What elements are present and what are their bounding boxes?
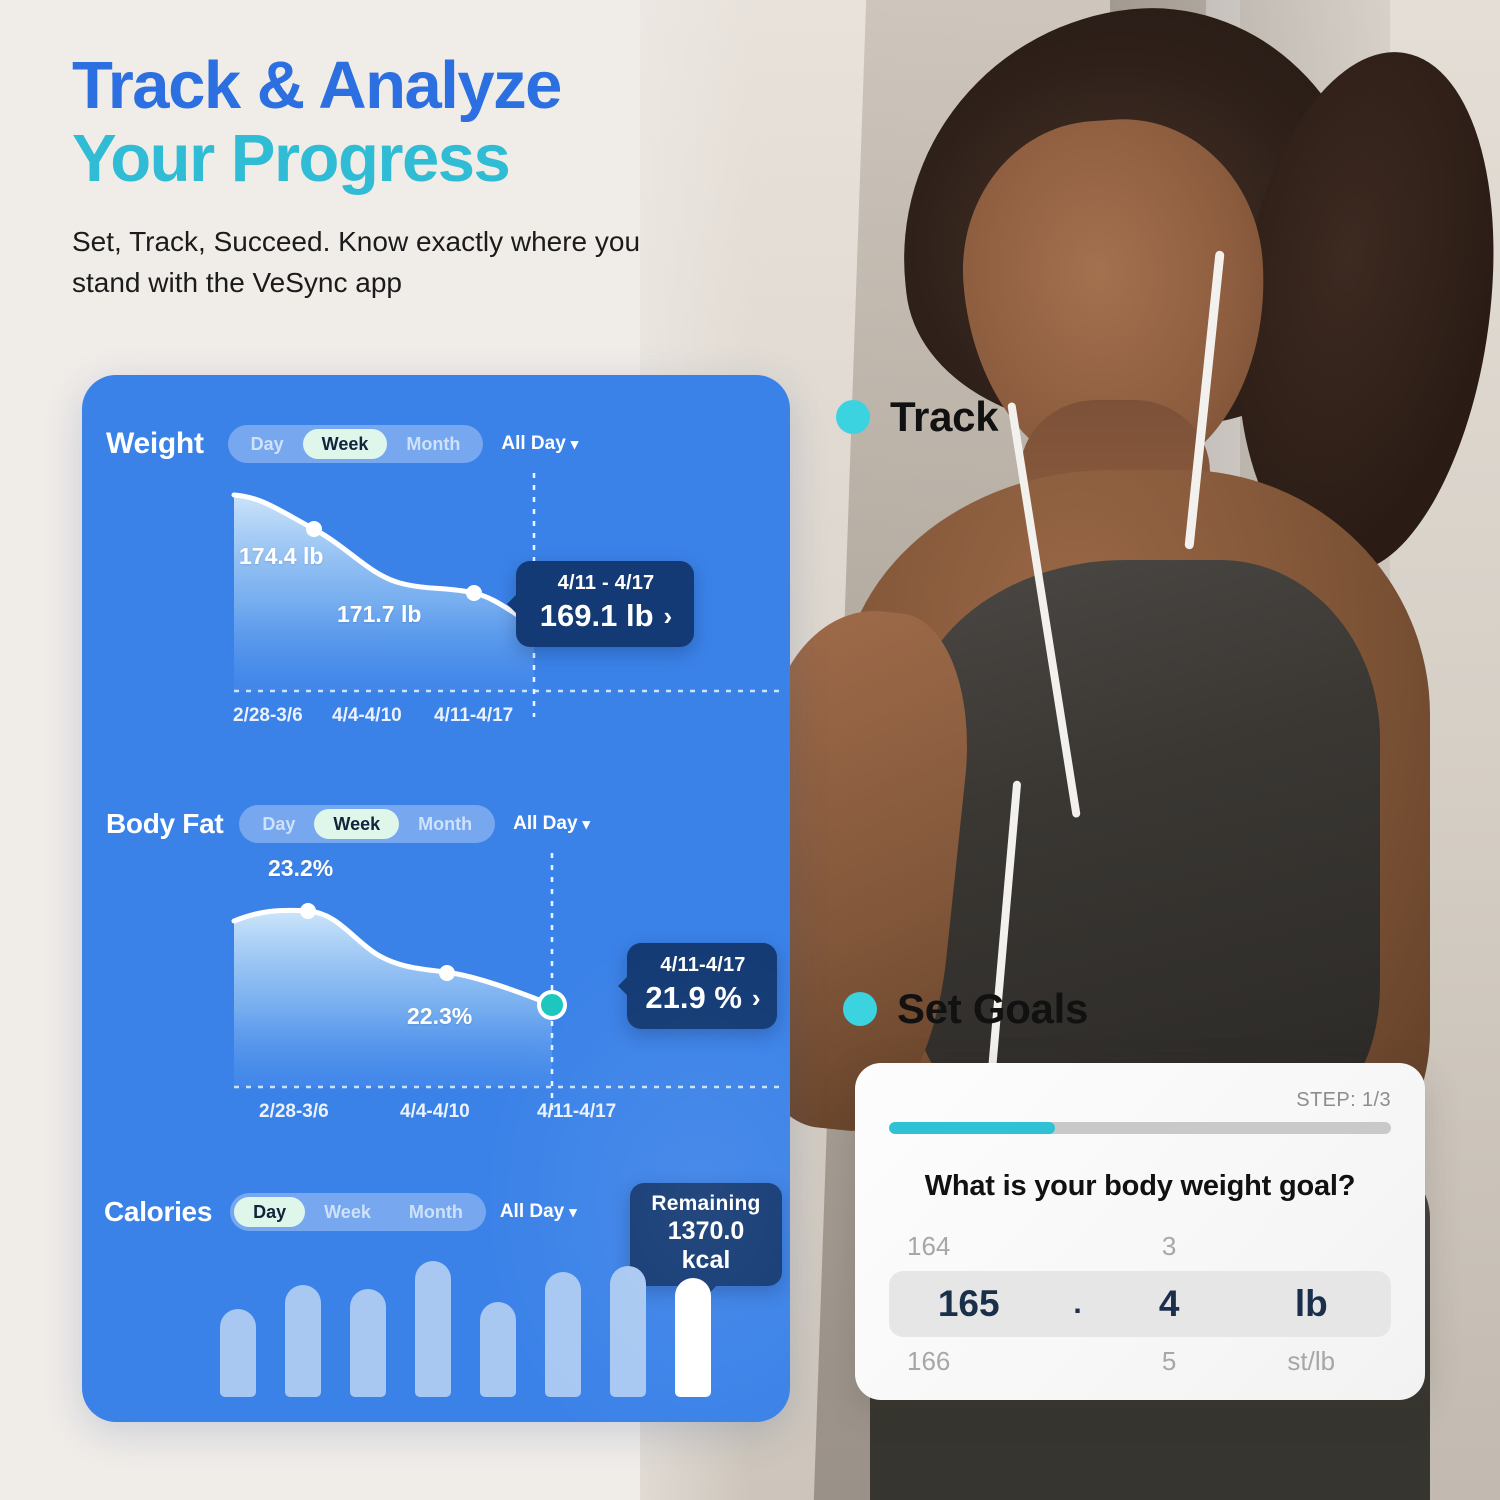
- page-title: Track & Analyze Your Progress: [72, 52, 772, 192]
- bodyfat-allday-label: All Day: [513, 813, 577, 835]
- calories-segment-week[interactable]: Week: [305, 1197, 390, 1227]
- bodyfat-value-badge[interactable]: 4/11-4/17 21.9 % ›: [627, 943, 777, 1029]
- calories-bar[interactable]: [285, 1285, 321, 1397]
- goals-progress-fill: [889, 1122, 1055, 1134]
- weight-goal-picker[interactable]: 164 3 165 . 4 lb 166 5 st/lb: [889, 1231, 1391, 1377]
- weight-value-badge[interactable]: 4/11 - 4/17 169.1 lb ›: [516, 561, 694, 647]
- weight-data-point: [306, 521, 322, 537]
- picker-selected-integer[interactable]: 165: [889, 1283, 1048, 1325]
- bodyfat-data-point: [439, 965, 455, 981]
- picker-above-decimal[interactable]: 3: [1107, 1231, 1232, 1262]
- annotation-set-goals: Set Goals: [843, 985, 1088, 1033]
- bodyfat-section-title: Body Fat: [106, 808, 223, 840]
- picker-above-integer[interactable]: 164: [889, 1231, 1048, 1262]
- weight-badge-value-row: 169.1 lb ›: [534, 598, 678, 634]
- bodyfat-current-point[interactable]: [537, 990, 567, 1020]
- weight-segment-day[interactable]: Day: [232, 429, 303, 459]
- bodyfat-segmented-control[interactable]: Day Week Month: [239, 805, 495, 843]
- picker-below-integer[interactable]: 166: [889, 1346, 1048, 1377]
- page-subtitle: Set, Track, Succeed. Know exactly where …: [72, 222, 682, 303]
- picker-selected-unit[interactable]: lb: [1232, 1283, 1391, 1325]
- calories-bar[interactable]: [220, 1309, 256, 1397]
- bodyfat-badge-range: 4/11-4/17: [645, 954, 761, 977]
- weight-badge-range: 4/11 - 4/17: [534, 572, 678, 595]
- weight-segment-week[interactable]: Week: [303, 429, 388, 459]
- picker-decimal-point: .: [1048, 1287, 1106, 1321]
- weight-area-chart: 174.4 lb 171.7 lb 2/28-3/6 4/4-4/10 4/11…: [82, 473, 790, 763]
- weight-data-point: [466, 585, 482, 601]
- bullet-dot-icon: [843, 992, 877, 1026]
- set-goals-card: STEP: 1/3 What is your body weight goal?…: [855, 1063, 1425, 1400]
- bodyfat-x-tick: 4/4-4/10: [400, 1101, 470, 1123]
- chevron-down-icon: ▾: [569, 1203, 577, 1221]
- calories-badge-line1: Remaining: [648, 1192, 764, 1216]
- calories-bar[interactable]: [545, 1272, 581, 1397]
- weight-point-label-2: 171.7 lb: [337, 601, 421, 628]
- weight-badge-value: 169.1 lb: [540, 598, 654, 634]
- calories-section: Calories Day Week Month All Day ▾ Remain…: [82, 1193, 790, 1231]
- bodyfat-badge-value: 21.9 %: [645, 980, 742, 1016]
- bodyfat-area-fill: [234, 910, 552, 1087]
- bodyfat-data-point: [300, 903, 316, 919]
- calories-allday-label: All Day: [500, 1201, 564, 1223]
- calories-bar-chart: [220, 1257, 711, 1397]
- weight-x-tick: 4/11-4/17: [434, 705, 513, 727]
- annotation-set-goals-label: Set Goals: [897, 985, 1088, 1033]
- page-title-line-1: Track & Analyze: [72, 52, 772, 119]
- goals-question: What is your body weight goal?: [889, 1170, 1391, 1203]
- calories-allday-dropdown[interactable]: All Day ▾: [500, 1201, 577, 1223]
- calories-bar[interactable]: [350, 1289, 386, 1397]
- hero-text-block: Track & Analyze Your Progress Set, Track…: [72, 52, 772, 303]
- bodyfat-section: Body Fat Day Week Month All Day ▾: [82, 805, 790, 843]
- goals-step-label: STEP: 1/3: [889, 1089, 1391, 1112]
- weight-point-label-1: 174.4 lb: [239, 543, 323, 570]
- calories-bar[interactable]: [480, 1302, 516, 1397]
- weight-section-title: Weight: [106, 427, 204, 461]
- picker-selected-decimal[interactable]: 4: [1107, 1283, 1232, 1325]
- weight-segment-month[interactable]: Month: [387, 429, 479, 459]
- calories-segmented-control[interactable]: Day Week Month: [230, 1193, 486, 1231]
- annotation-track-label: Track: [890, 393, 998, 441]
- bodyfat-point-label-2: 22.3%: [407, 1003, 472, 1030]
- calories-section-title: Calories: [104, 1196, 212, 1228]
- chevron-right-icon: ›: [752, 983, 761, 1014]
- chevron-right-icon: ›: [664, 601, 673, 632]
- weight-segmented-control[interactable]: Day Week Month: [228, 425, 484, 463]
- bullet-dot-icon: [836, 400, 870, 434]
- page-title-line-2: Your Progress: [72, 125, 772, 192]
- bodyfat-segment-month[interactable]: Month: [399, 809, 491, 839]
- bodyfat-segment-day[interactable]: Day: [243, 809, 314, 839]
- chevron-down-icon: ▾: [571, 435, 579, 453]
- app-preview-card: Weight Day Week Month All Day ▾: [82, 375, 790, 1422]
- bodyfat-x-tick: 2/28-3/6: [259, 1101, 329, 1123]
- calories-segment-month[interactable]: Month: [390, 1197, 482, 1227]
- calories-segment-day[interactable]: Day: [234, 1197, 305, 1227]
- bodyfat-badge-value-row: 21.9 % ›: [645, 980, 761, 1016]
- picker-below-unit[interactable]: st/lb: [1232, 1346, 1391, 1377]
- chevron-down-icon: ▾: [583, 815, 591, 833]
- bodyfat-area-chart: 23.2% 22.3% 2/28-3/6 4/4-4/10 4/11-4/17 …: [82, 853, 790, 1153]
- calories-bar-highlighted[interactable]: [675, 1278, 711, 1397]
- annotation-track: Track: [836, 393, 998, 441]
- badge-tail-icon: [618, 975, 629, 997]
- weight-section: Weight Day Week Month All Day ▾: [82, 425, 790, 463]
- picker-below-decimal[interactable]: 5: [1107, 1346, 1232, 1377]
- bodyfat-x-tick: 4/11-4/17: [537, 1101, 616, 1123]
- badge-tail-icon: [507, 593, 518, 615]
- picker-row-selected[interactable]: 165 . 4 lb: [889, 1271, 1391, 1337]
- weight-allday-label: All Day: [501, 433, 565, 455]
- weight-x-tick: 4/4-4/10: [332, 705, 402, 727]
- calories-bar[interactable]: [610, 1266, 646, 1397]
- calories-bar[interactable]: [415, 1261, 451, 1397]
- goals-progress-bar: [889, 1122, 1391, 1134]
- weight-area-fill: [234, 495, 534, 691]
- bodyfat-segment-week[interactable]: Week: [314, 809, 399, 839]
- bodyfat-point-label-1: 23.2%: [268, 855, 333, 882]
- picker-row-above[interactable]: 164 3: [889, 1231, 1391, 1262]
- weight-allday-dropdown[interactable]: All Day ▾: [501, 433, 578, 455]
- bodyfat-allday-dropdown[interactable]: All Day ▾: [513, 813, 590, 835]
- picker-row-below[interactable]: 166 5 st/lb: [889, 1346, 1391, 1377]
- weight-x-tick: 2/28-3/6: [233, 705, 303, 727]
